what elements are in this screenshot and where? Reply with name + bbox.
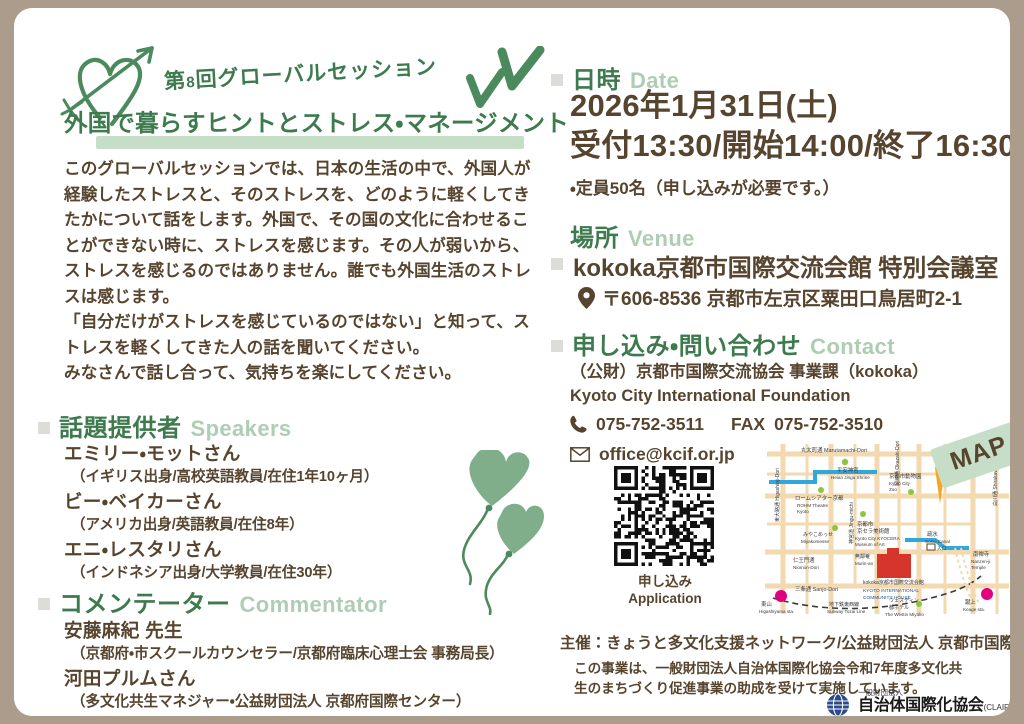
envelope-icon xyxy=(570,447,590,462)
svg-text:Temple: Temple xyxy=(971,565,986,570)
kicker-text: 第8回グローバルセッション xyxy=(163,50,437,95)
svg-text:Niomon-Dori: Niomon-Dori xyxy=(793,565,819,570)
qr-block: 申し込み Application xyxy=(614,466,716,607)
host-line: 主催：きょうと多文化支援ネットワーク/公益財団法人 京都市国際交流協会 xyxy=(560,631,1010,653)
kicker-suffix: 回グローバルセッション xyxy=(195,55,438,91)
speaker-meta: （インドネシア出身/大学教員/在住30年） xyxy=(64,562,534,584)
speakers-heading: 話題提供者 Speakers xyxy=(38,408,292,443)
body-paragraph-3: みなさんで話し合って、気持ちを楽にしてください。 xyxy=(64,360,538,386)
speakers-list: エミリー・モットさん （イギリス出身/高校英語教員/在住1年10ヶ月） ビー・ベ… xyxy=(64,441,534,585)
venue-name: kokoka京都市国際交流会館 特別会議室 xyxy=(573,248,998,283)
svg-text:Subway Tozai Line: Subway Tozai Line xyxy=(827,609,866,614)
clair-text: 一般財団法人 自治体国際化協会(CLAIR/クレア) xyxy=(858,688,1010,716)
email-address[interactable]: office@kcif.or.jp xyxy=(599,439,735,469)
list-item: 河田プルムさん （多文化共生マネジャー・公益財団法人 京都府国際センター） xyxy=(64,666,544,713)
venue-name-row: kokoka京都市国際交流会館 特別会議室 xyxy=(551,248,998,283)
speakers-heading-en: Speakers xyxy=(191,416,292,442)
body-copy: このグローバルセッションでは、日本の生活の中で、外国人が経験したストレスと、その… xyxy=(64,156,538,386)
svg-text:ROHM Theatre: ROHM Theatre xyxy=(797,503,829,508)
svg-text:Murin-an: Murin-an xyxy=(855,561,874,566)
commentator-list: 安藤麻紀 先生 （京都府・市スクールカウンセラー/京都府臨床心理士会 事務局長）… xyxy=(64,618,544,714)
svg-text:丸太町通 Marutamachi-Dori: 丸太町通 Marutamachi-Dori xyxy=(801,446,867,454)
globe-icon-wrap: CLAIR xyxy=(824,693,852,717)
list-item: ビー・ベイカーさん （アメリカ出身/英語教員/在住8年） xyxy=(64,489,534,536)
svg-text:Zoo: Zoo xyxy=(889,487,897,492)
venue-address: 〒606-8536 京都市左京区粟田口鳥居町2-1 xyxy=(602,284,962,311)
square-bullet-icon xyxy=(551,258,563,270)
svg-text:ロームシアター京都: ロームシアター京都 xyxy=(795,494,844,502)
list-item: 安藤麻紀 先生 （京都府・市スクールカウンセラー/京都府臨床心理士会 事務局長） xyxy=(64,618,544,665)
svg-text:蹴上: 蹴上 xyxy=(965,598,976,606)
qr-caption-en: Application xyxy=(614,590,716,607)
left-column: 第8回グローバルセッション 外国で暮らすヒントとストレス・マネージメント このグ… xyxy=(38,26,538,698)
svg-text:仁王門通: 仁王門通 xyxy=(793,556,815,564)
speaker-name: エミリー・モットさん xyxy=(64,441,534,466)
speaker-name: ビー・ベイカーさん xyxy=(64,489,534,514)
svg-text:みやこめっせ: みやこめっせ xyxy=(803,531,833,538)
commentator-heading: コメンテーター Commentator xyxy=(38,584,387,619)
commentator-heading-en: Commentator xyxy=(240,592,387,618)
date-line-2: 受付13:30/開始14:00/終了16:30 xyxy=(570,126,1010,166)
svg-text:Keage sta.: Keage sta. xyxy=(963,607,985,612)
qr-code[interactable] xyxy=(614,466,714,566)
body-paragraph-2: 「自分だけがストレスを感じているのではない」と知って、ストレスを軽くしてきた人の… xyxy=(64,309,538,360)
map-pin-icon xyxy=(578,287,595,309)
svg-text:Higashiyama sta.: Higashiyama sta. xyxy=(759,609,794,614)
svg-text:南禅寺: 南禅寺 xyxy=(973,550,990,558)
qr-caption-jp: 申し込み xyxy=(614,573,716,590)
square-bullet-icon xyxy=(38,422,50,434)
list-item: エミリー・モットさん （イギリス出身/高校英語教員/在住1年10ヶ月） xyxy=(64,441,534,488)
svg-text:KYOTO INTERNATIONAL: KYOTO INTERNATIONAL xyxy=(863,588,919,594)
kicker-prefix: 第 xyxy=(164,69,187,93)
svg-text:三条通 Sanjo-Dori: 三条通 Sanjo-Dori xyxy=(795,585,838,593)
list-item: エニ・レスタリさん （インドネシア出身/大学教員/在住30年） xyxy=(64,537,534,584)
svg-text:Nanzen-ji: Nanzen-ji xyxy=(971,559,990,564)
svg-text:Kyoto City KYOCERA: Kyoto City KYOCERA xyxy=(855,536,901,541)
svg-text:Heian Jingu Shrine: Heian Jingu Shrine xyxy=(831,475,870,480)
speaker-name: エニ・レスタリさん xyxy=(64,537,534,562)
square-bullet-icon xyxy=(551,340,563,352)
contact-heading-jp: 申し込み・問い合わせ xyxy=(572,326,801,361)
clair-logo: CLAIR 一般財団法人 自治体国際化協会(CLAIR/クレア) xyxy=(824,688,1010,716)
svg-text:Miyakomesse: Miyakomesse xyxy=(801,539,830,544)
contact-heading: 申し込み・問い合わせ Contact xyxy=(551,326,895,361)
svg-text:平安神宮: 平安神宮 xyxy=(837,466,859,474)
svg-text:東大路通 Higashioji-Dori: 東大路通 Higashioji-Dori xyxy=(774,468,781,522)
square-bullet-icon xyxy=(38,598,50,610)
svg-text:地下鉄東西線: 地下鉄東西線 xyxy=(829,601,859,608)
speaker-meta: （イギリス出身/高校英語教員/在住1年10ヶ月） xyxy=(64,466,534,488)
title-highlight-bar xyxy=(96,136,524,149)
date-line-1: 2026年1月31日(土) xyxy=(570,86,1010,126)
svg-text:岡崎通 Okazaki-Dori: 岡崎通 Okazaki-Dori xyxy=(894,441,901,486)
svg-text:京セラ美術館: 京セラ美術館 xyxy=(857,527,890,535)
body-paragraph-1: このグローバルセッションでは、日本の生活の中で、外国人が経験したストレスと、その… xyxy=(64,156,538,309)
svg-text:kokoka京都市国際交流会館: kokoka京都市国際交流会館 xyxy=(863,579,924,586)
svg-text:神宮道 Jingu-michi: 神宮道 Jingu-michi xyxy=(848,502,855,544)
speakers-heading-jp: 話題提供者 xyxy=(59,408,182,443)
phone-row: 075-752-3511 FAX 075-752-3510 xyxy=(570,409,928,439)
speaker-meta: （アメリカ出身/英語教員/在住8年） xyxy=(64,514,534,536)
svg-text:COMMUNITY HOUSE: COMMUNITY HOUSE xyxy=(863,595,911,601)
venue-address-row: 〒606-8536 京都市左京区粟田口鳥居町2-1 xyxy=(578,284,962,311)
globe-icon xyxy=(824,693,852,717)
svg-text:Museum of Art: Museum of Art xyxy=(855,542,885,547)
square-bullet-icon xyxy=(551,74,563,86)
phone-icon xyxy=(570,415,587,433)
svg-text:無鄰菴: 無鄰菴 xyxy=(855,553,870,560)
svg-text:Kyoto: Kyoto xyxy=(797,509,809,514)
flyer-card: 第8回グローバルセッション 外国で暮らすヒントとストレス・マネージメント このグ… xyxy=(14,8,1010,716)
capacity-note: ・定員50名（申し込みが必要です。） xyxy=(570,174,840,199)
svg-text:疏水: 疏水 xyxy=(927,530,938,538)
phone-number[interactable]: 075-752-3511 xyxy=(596,409,704,439)
svg-text:Sosui Canal: Sosui Canal xyxy=(925,539,950,544)
contact-org-jp: （公財）京都市国際交流協会 事業課（kokoka） xyxy=(570,360,928,384)
svg-text:東山: 東山 xyxy=(761,600,772,608)
fax-number: 075-752-3510 xyxy=(774,409,883,439)
clair-main-label: 自治体国際化協会 xyxy=(858,697,984,714)
date-value: 2026年1月31日(土) 受付13:30/開始14:00/終了16:30 xyxy=(570,86,1010,166)
svg-text:京都市: 京都市 xyxy=(857,520,874,528)
svg-text:The Westin Miyako: The Westin Miyako xyxy=(885,612,924,617)
contact-org-en: Kyoto City International Foundation xyxy=(570,384,928,409)
commentator-name: 安藤麻紀 先生 xyxy=(64,618,544,643)
commentator-name: 河田プルムさん xyxy=(64,666,544,691)
commentator-heading-jp: コメンテーター xyxy=(59,584,231,619)
contact-heading-en: Contact xyxy=(810,334,895,360)
svg-text:都ホテル: 都ホテル xyxy=(889,605,909,611)
svg-text:京都市動物園: 京都市動物園 xyxy=(889,472,921,480)
fax-label: FAX xyxy=(731,409,765,439)
page-title: 外国で暮らすヒントとストレス・マネージメント xyxy=(64,104,569,138)
commentator-meta: （多文化共生マネジャー・公益財団法人 京都府国際センター） xyxy=(64,691,544,713)
commentator-meta: （京都府・市スクールカウンセラー/京都府臨床心理士会 事務局長） xyxy=(64,643,544,665)
right-column: 日時 Date 2026年1月31日(土) 受付13:30/開始14:00/終了… xyxy=(544,26,1010,698)
clair-top-label: 一般財団法人 xyxy=(858,688,1010,697)
